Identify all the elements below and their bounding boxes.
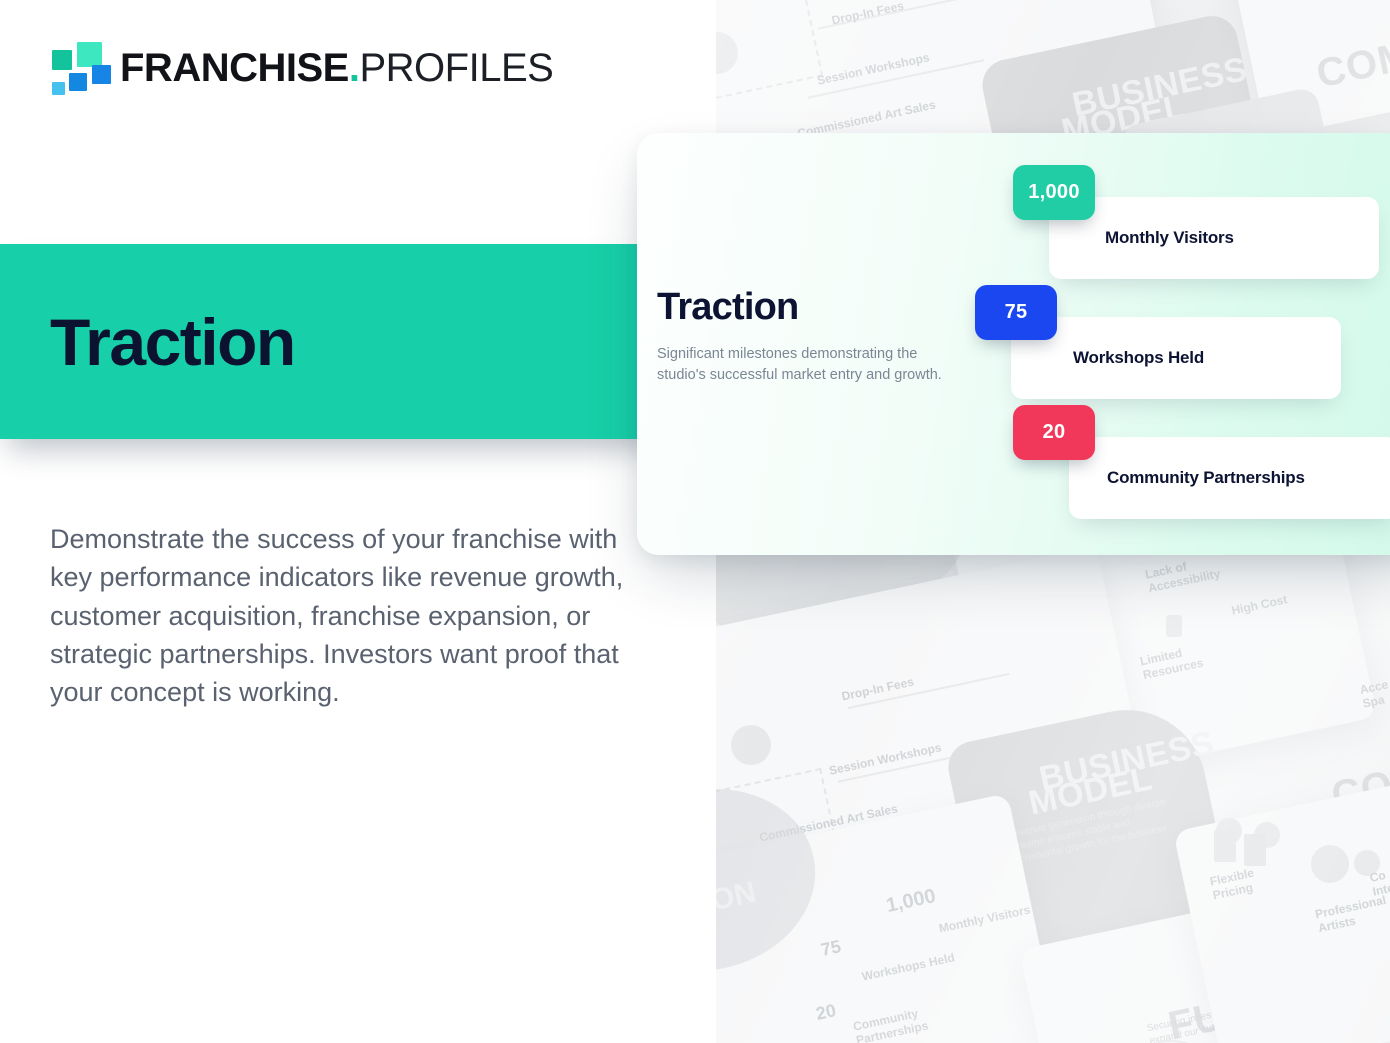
ghost-bar-icon-1: [1214, 830, 1236, 862]
ghost-hourglass-icon: [1166, 615, 1182, 637]
card-text-block: Traction Significant milestones demonstr…: [657, 288, 967, 386]
logo-wordmark: FRANCHISE.PROFILES: [120, 48, 553, 88]
stat-value: 75: [1005, 301, 1028, 324]
logo-word-profiles: PROFILES: [359, 46, 553, 90]
stat-label: Workshops Held: [1073, 347, 1204, 368]
brand-logo[interactable]: FRANCHISE.PROFILES: [48, 40, 553, 96]
logo-square-4: [92, 65, 111, 84]
logo-square-1: [52, 50, 72, 70]
logo-square-2: [77, 42, 102, 67]
logo-word-franchise: FRANCHISE: [120, 46, 349, 90]
stat-label: Monthly Visitors: [1105, 227, 1234, 248]
logo-square-3: [69, 73, 87, 91]
ghost-gear-icon-small: [1354, 850, 1380, 876]
ghost-gear-icon: [1311, 845, 1349, 883]
stat-value: 20: [1043, 421, 1066, 444]
logo-dot: .: [349, 46, 360, 90]
page-title: Traction: [50, 309, 295, 375]
section-description: Demonstrate the success of your franchis…: [50, 520, 625, 712]
stat-list: 1,000 Monthly Visitors 75 Workshops Held…: [1007, 165, 1390, 525]
card-title: Traction: [657, 288, 967, 326]
logo-squares-icon: [48, 40, 104, 96]
stat-badge-community-partnerships: 20: [1013, 405, 1095, 460]
stat-label: Community Partnerships: [1107, 467, 1305, 488]
stat-card-monthly-visitors[interactable]: Monthly Visitors: [1049, 197, 1379, 279]
ghost-coin-icon-b: [731, 725, 771, 765]
section-title-banner: Traction: [0, 244, 702, 439]
stat-row: 75 Workshops Held: [1007, 285, 1390, 405]
stat-card-workshops-held[interactable]: Workshops Held: [1011, 317, 1341, 399]
logo-square-5: [52, 82, 65, 95]
ghost-bar-icon-2: [1244, 834, 1266, 866]
stat-badge-workshops-held: 75: [975, 285, 1057, 340]
card-subtitle: Significant milestones demonstrating the…: [657, 344, 967, 386]
left-content-panel: FRANCHISE.PROFILES Traction Demonstrate …: [0, 0, 716, 1043]
stat-card-community-partnerships[interactable]: Community Partnerships: [1069, 437, 1390, 519]
stat-value: 1,000: [1028, 181, 1080, 204]
stat-badge-monthly-visitors: 1,000: [1013, 165, 1095, 220]
traction-slide-preview-card[interactable]: Traction Significant milestones demonstr…: [637, 133, 1390, 555]
stat-row: 20 Community Partnerships: [1007, 405, 1390, 525]
stat-row: 1,000 Monthly Visitors: [1007, 165, 1390, 285]
